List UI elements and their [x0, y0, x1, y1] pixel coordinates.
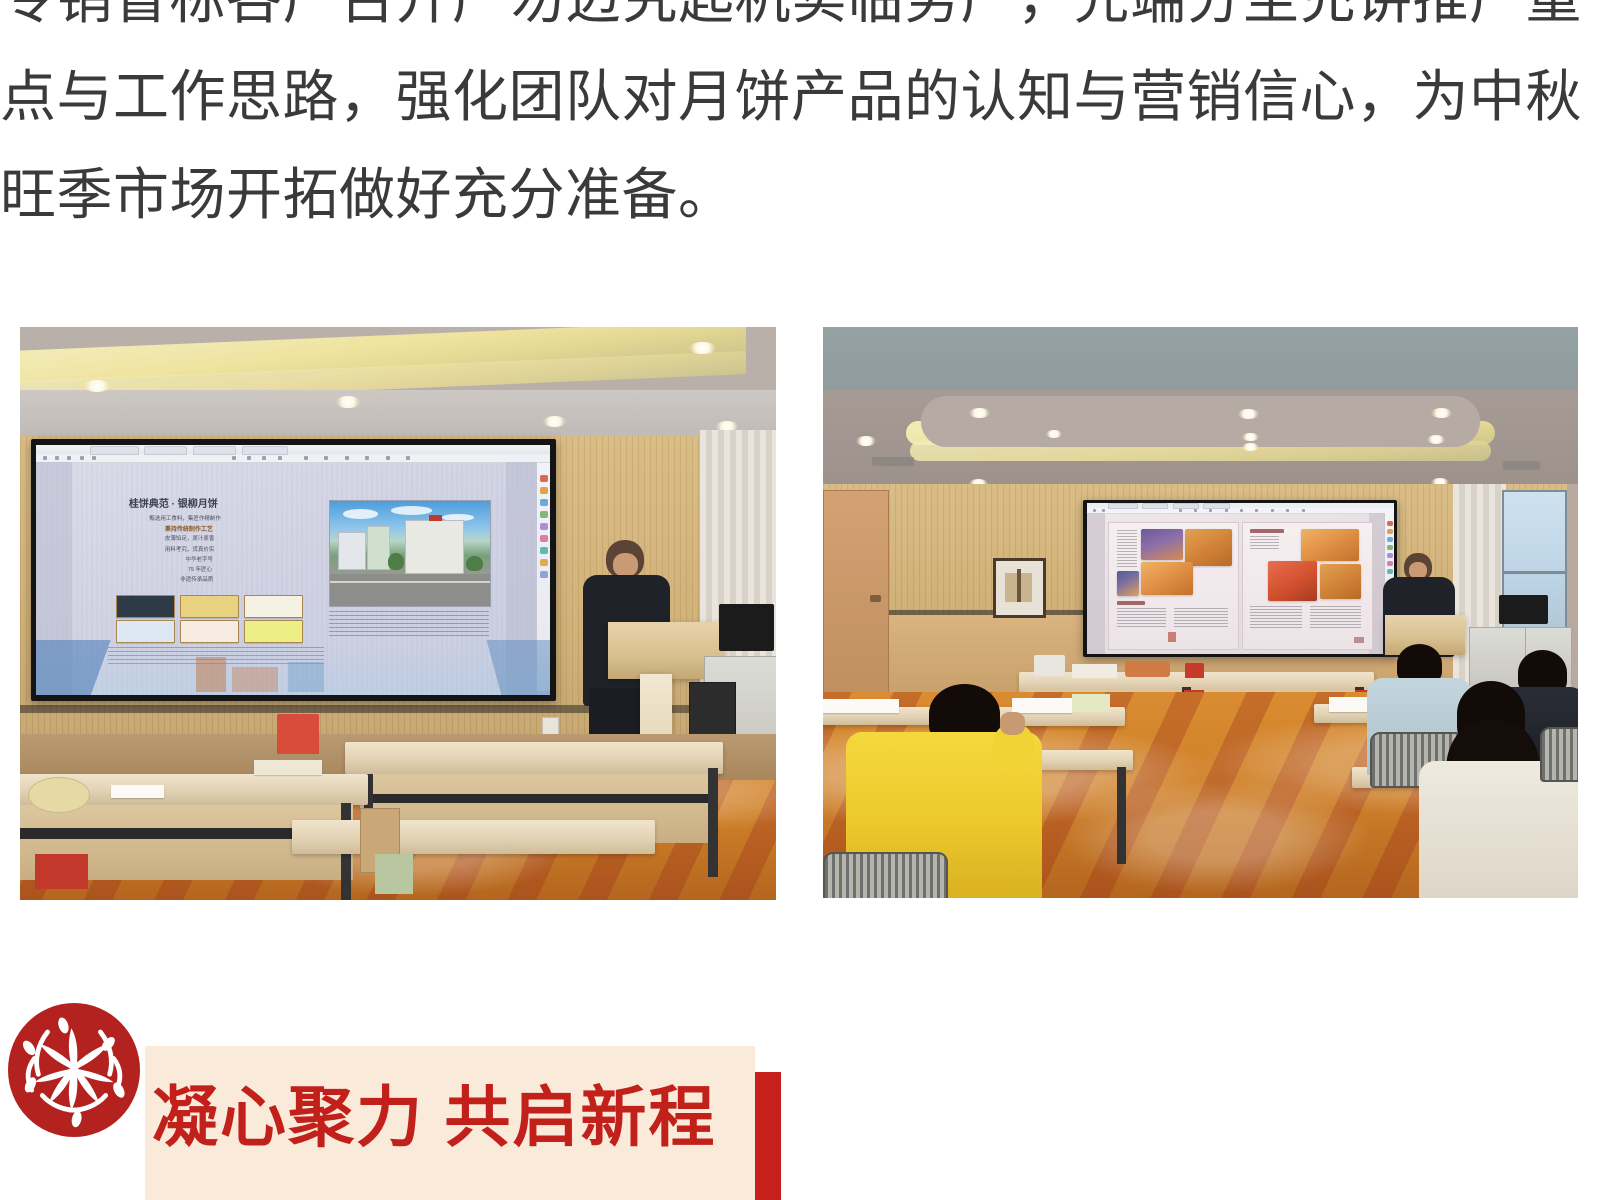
mooncake-product-photo [1117, 571, 1139, 596]
slide-line: 中华老字号 [185, 555, 213, 563]
catalog-page-right [1242, 522, 1373, 650]
photo-row: 桂饼典范 · 银柳月饼 甄选用工食料，集匠作精制作 秉持传统制作工艺 皮薄馅足，… [0, 327, 1600, 902]
certificate-image [116, 595, 175, 618]
mooncake-product-photo [1301, 529, 1359, 562]
ceiling-light [84, 380, 110, 392]
monitor [719, 604, 773, 651]
photo-trainees-in-classroom [823, 327, 1578, 898]
presenter-face [613, 553, 639, 576]
company-building-photo [329, 500, 490, 607]
conference-table [345, 742, 723, 774]
photo-presenter-at-podium: 桂饼典范 · 银柳月饼 甄选用工食料，集匠作精制作 秉持传统制作工艺 皮薄馅足，… [20, 327, 776, 900]
mooncake-product-photo [1268, 561, 1317, 601]
projector-screen: 桂饼典范 · 银柳月饼 甄选用工食料，集匠作精制作 秉持传统制作工艺 皮薄馅足，… [31, 439, 556, 700]
slide-line: 秉持传统制作工艺 [165, 524, 213, 533]
certificate-image [244, 595, 303, 618]
article-body-text: 专销冒标各广召开产勿迈究匙机实临务产，先端分至充讲推广重点与工作思路，强化团队对… [0, 0, 1600, 244]
projector-screen [1083, 500, 1396, 657]
mooncake-product-photo [1320, 564, 1361, 599]
mooncake-product-photo [1141, 529, 1182, 560]
laptop [1499, 595, 1548, 624]
slide-line: 甄选用工食料，集匠作精制作 [149, 514, 221, 522]
handout-paper [823, 699, 899, 713]
decorative-cityscape [232, 667, 278, 692]
slide-title: 桂饼典范 · 银柳月饼 [129, 495, 218, 510]
chair[interactable] [823, 852, 948, 898]
mooncake-product-photo [1185, 529, 1231, 567]
slide-line: 75 年匠心 [188, 565, 212, 573]
slide-line: 用料考究，货真价实 [165, 545, 215, 553]
slide-content [1087, 503, 1394, 654]
mooncake-product-photo [1141, 562, 1193, 595]
ceiling-light [1242, 433, 1259, 441]
decorative-cityscape [196, 657, 227, 692]
company-description-paragraph [329, 611, 488, 636]
ceiling-light [336, 396, 360, 407]
decorative-cityscape [288, 662, 324, 692]
slide-content: 桂饼典范 · 银柳月饼 甄选用工食料，集匠作精制作 秉持传统制作工艺 皮薄馅足，… [36, 445, 550, 695]
slogan-text: 凝心聚力 共启新程 [152, 1073, 752, 1161]
ceiling-light [856, 436, 876, 446]
chair[interactable] [1540, 727, 1578, 782]
slide-line: 皮薄馅足，原汁原香 [165, 534, 215, 542]
catalog-page-left [1108, 522, 1239, 650]
handout-paper [1012, 698, 1072, 713]
red-seal-logo [8, 1003, 140, 1137]
door[interactable] [823, 490, 889, 698]
seal-pinwheel-icon [8, 1003, 140, 1135]
wall-picture-frame [993, 558, 1046, 618]
slogan-banner-accent-bar [755, 1072, 781, 1200]
ceiling-light [1046, 430, 1063, 438]
slide-line: 非遗传承品质 [180, 575, 213, 583]
certificate-image [180, 595, 239, 618]
conference-table [292, 820, 655, 854]
